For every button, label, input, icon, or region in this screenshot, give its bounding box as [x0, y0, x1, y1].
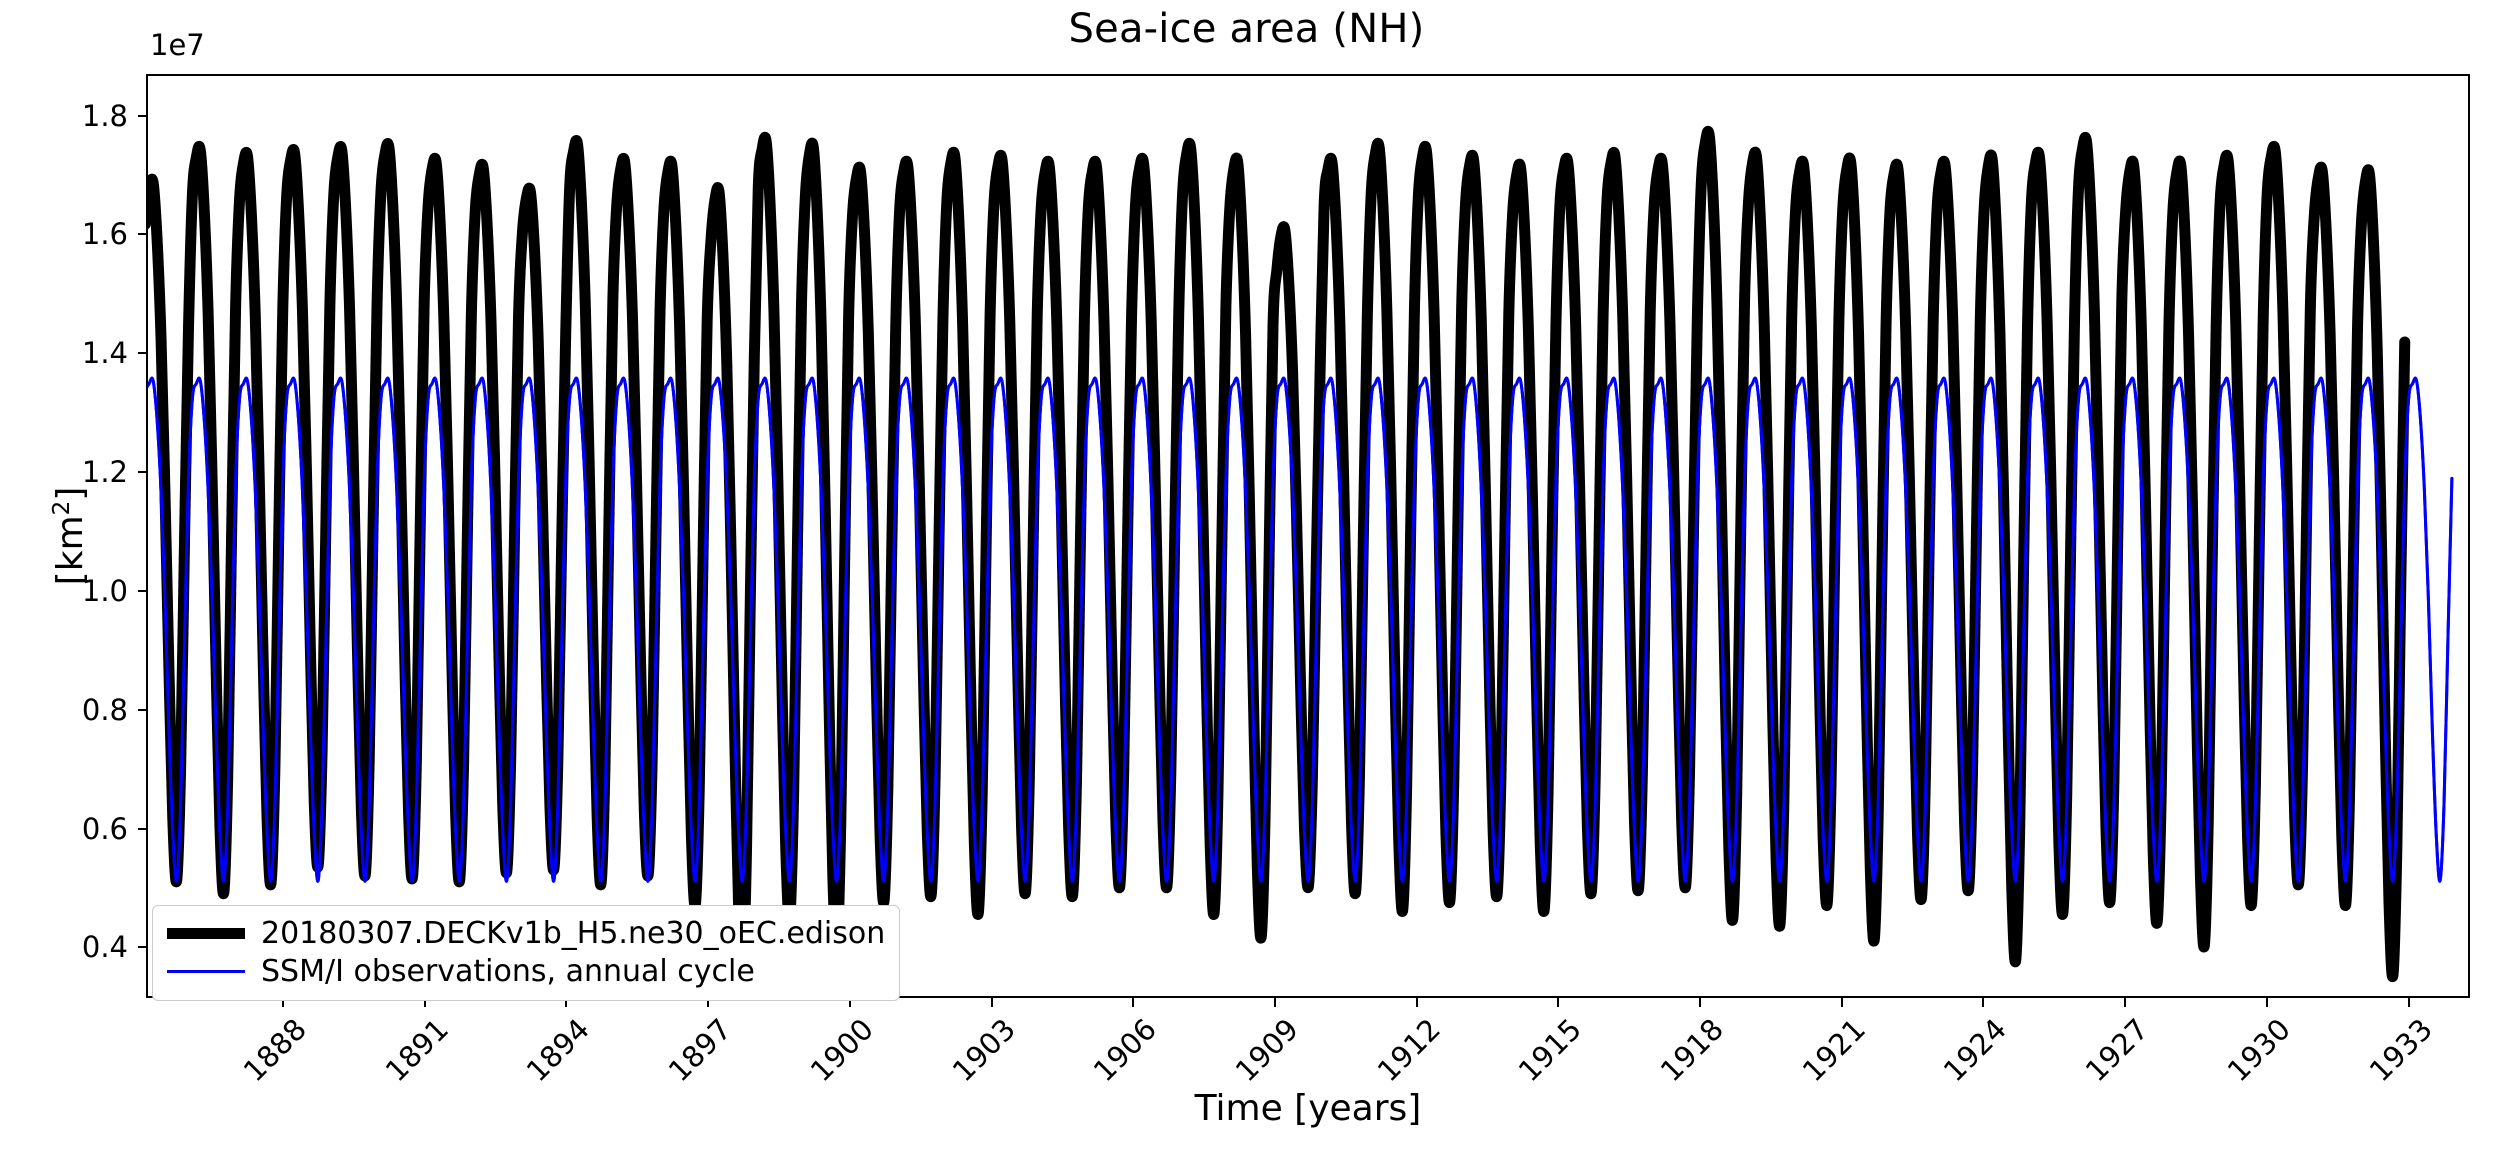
x-axis-label: Time [years] [146, 1088, 2470, 1129]
legend-label-observations: SSM/I observations, annual cycle [261, 954, 755, 989]
x-axis-tick-label: 1921 [1796, 1012, 1872, 1088]
y-axis-label-text: [km2] [32, 74, 92, 998]
x-axis-tick-mark [1416, 998, 1418, 1007]
x-axis-tick-label: 1906 [1087, 1012, 1163, 1088]
x-axis-tick-label: 1909 [1229, 1012, 1305, 1088]
legend-swatch-observations [167, 970, 245, 973]
y-axis-offset-text: 1e7 [150, 28, 205, 62]
x-axis-tick-label: 1897 [662, 1012, 738, 1088]
legend-item: SSM/I observations, annual cycle [167, 952, 885, 990]
x-axis-tick-label: 1912 [1370, 1012, 1446, 1088]
x-axis-tick-mark [991, 998, 993, 1007]
figure: Sea-ice area (NH) 1e7 0.40.60.81.01.21.4… [0, 0, 2493, 1151]
x-axis-tick-mark [1699, 998, 1701, 1007]
x-axis-tick-label: 1930 [2221, 1012, 2297, 1088]
x-axis-tick-label: 1933 [2362, 1012, 2438, 1088]
x-axis-tick-label: 1918 [1654, 1012, 1730, 1088]
legend[interactable]: 20180307.DECKv1b_H5.ne30_oEC.edison SSM/… [152, 905, 900, 1001]
legend-label-model: 20180307.DECKv1b_H5.ne30_oEC.edison [261, 916, 885, 951]
x-axis-tick-label: 1903 [945, 1012, 1021, 1088]
x-axis-tick-mark [1982, 998, 1984, 1007]
x-axis-tick-label: 1888 [237, 1012, 313, 1088]
x-axis-tick-mark [1841, 998, 1843, 1007]
x-axis-tick-mark [2124, 998, 2126, 1007]
x-axis-tick-label: 1891 [378, 1012, 454, 1088]
legend-item: 20180307.DECKv1b_H5.ne30_oEC.edison [167, 914, 885, 952]
x-axis-tick-label: 1900 [804, 1012, 880, 1088]
x-axis-tick-label: 1924 [1937, 1012, 2013, 1088]
x-axis-tick-mark [1132, 998, 1134, 1007]
x-axis-tick-mark [2266, 998, 2268, 1007]
plot-svg [148, 76, 2468, 996]
x-axis-tick-mark [2408, 998, 2410, 1007]
legend-swatch-model [167, 928, 245, 939]
x-axis-tick-label: 1927 [2079, 1012, 2155, 1088]
y-axis-label: [km2] [32, 74, 92, 998]
plot-area [146, 74, 2470, 998]
x-axis-tick-mark [1557, 998, 1559, 1007]
x-axis-tick-mark [1274, 998, 1276, 1007]
page-title: Sea-ice area (NH) [0, 6, 2493, 52]
x-axis-tick-label: 1915 [1512, 1012, 1588, 1088]
x-axis-tick-label: 1894 [520, 1012, 596, 1088]
